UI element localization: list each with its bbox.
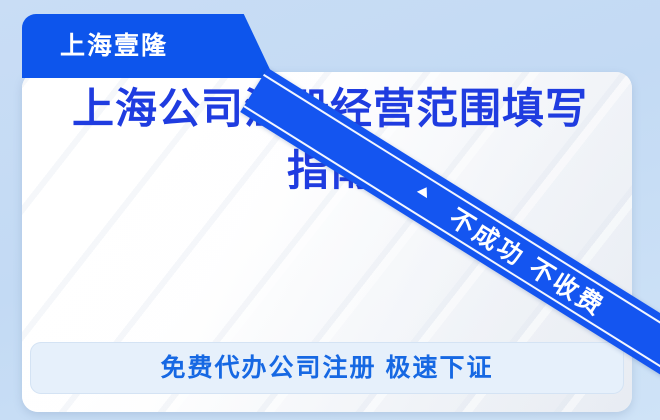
poster-canvas: 上海壹隆 上海公司注册经营范围填写 指南 免费代办公司注册 极速下证 不成功 不… <box>0 0 660 420</box>
cta-banner-label: 免费代办公司注册 极速下证 <box>161 356 494 381</box>
brand-tab-label: 上海壹隆 <box>22 34 168 59</box>
triangle-up-icon <box>417 184 432 198</box>
brand-tab-content: 上海壹隆 <box>22 14 274 78</box>
cta-banner[interactable]: 免费代办公司注册 极速下证 <box>30 342 624 394</box>
